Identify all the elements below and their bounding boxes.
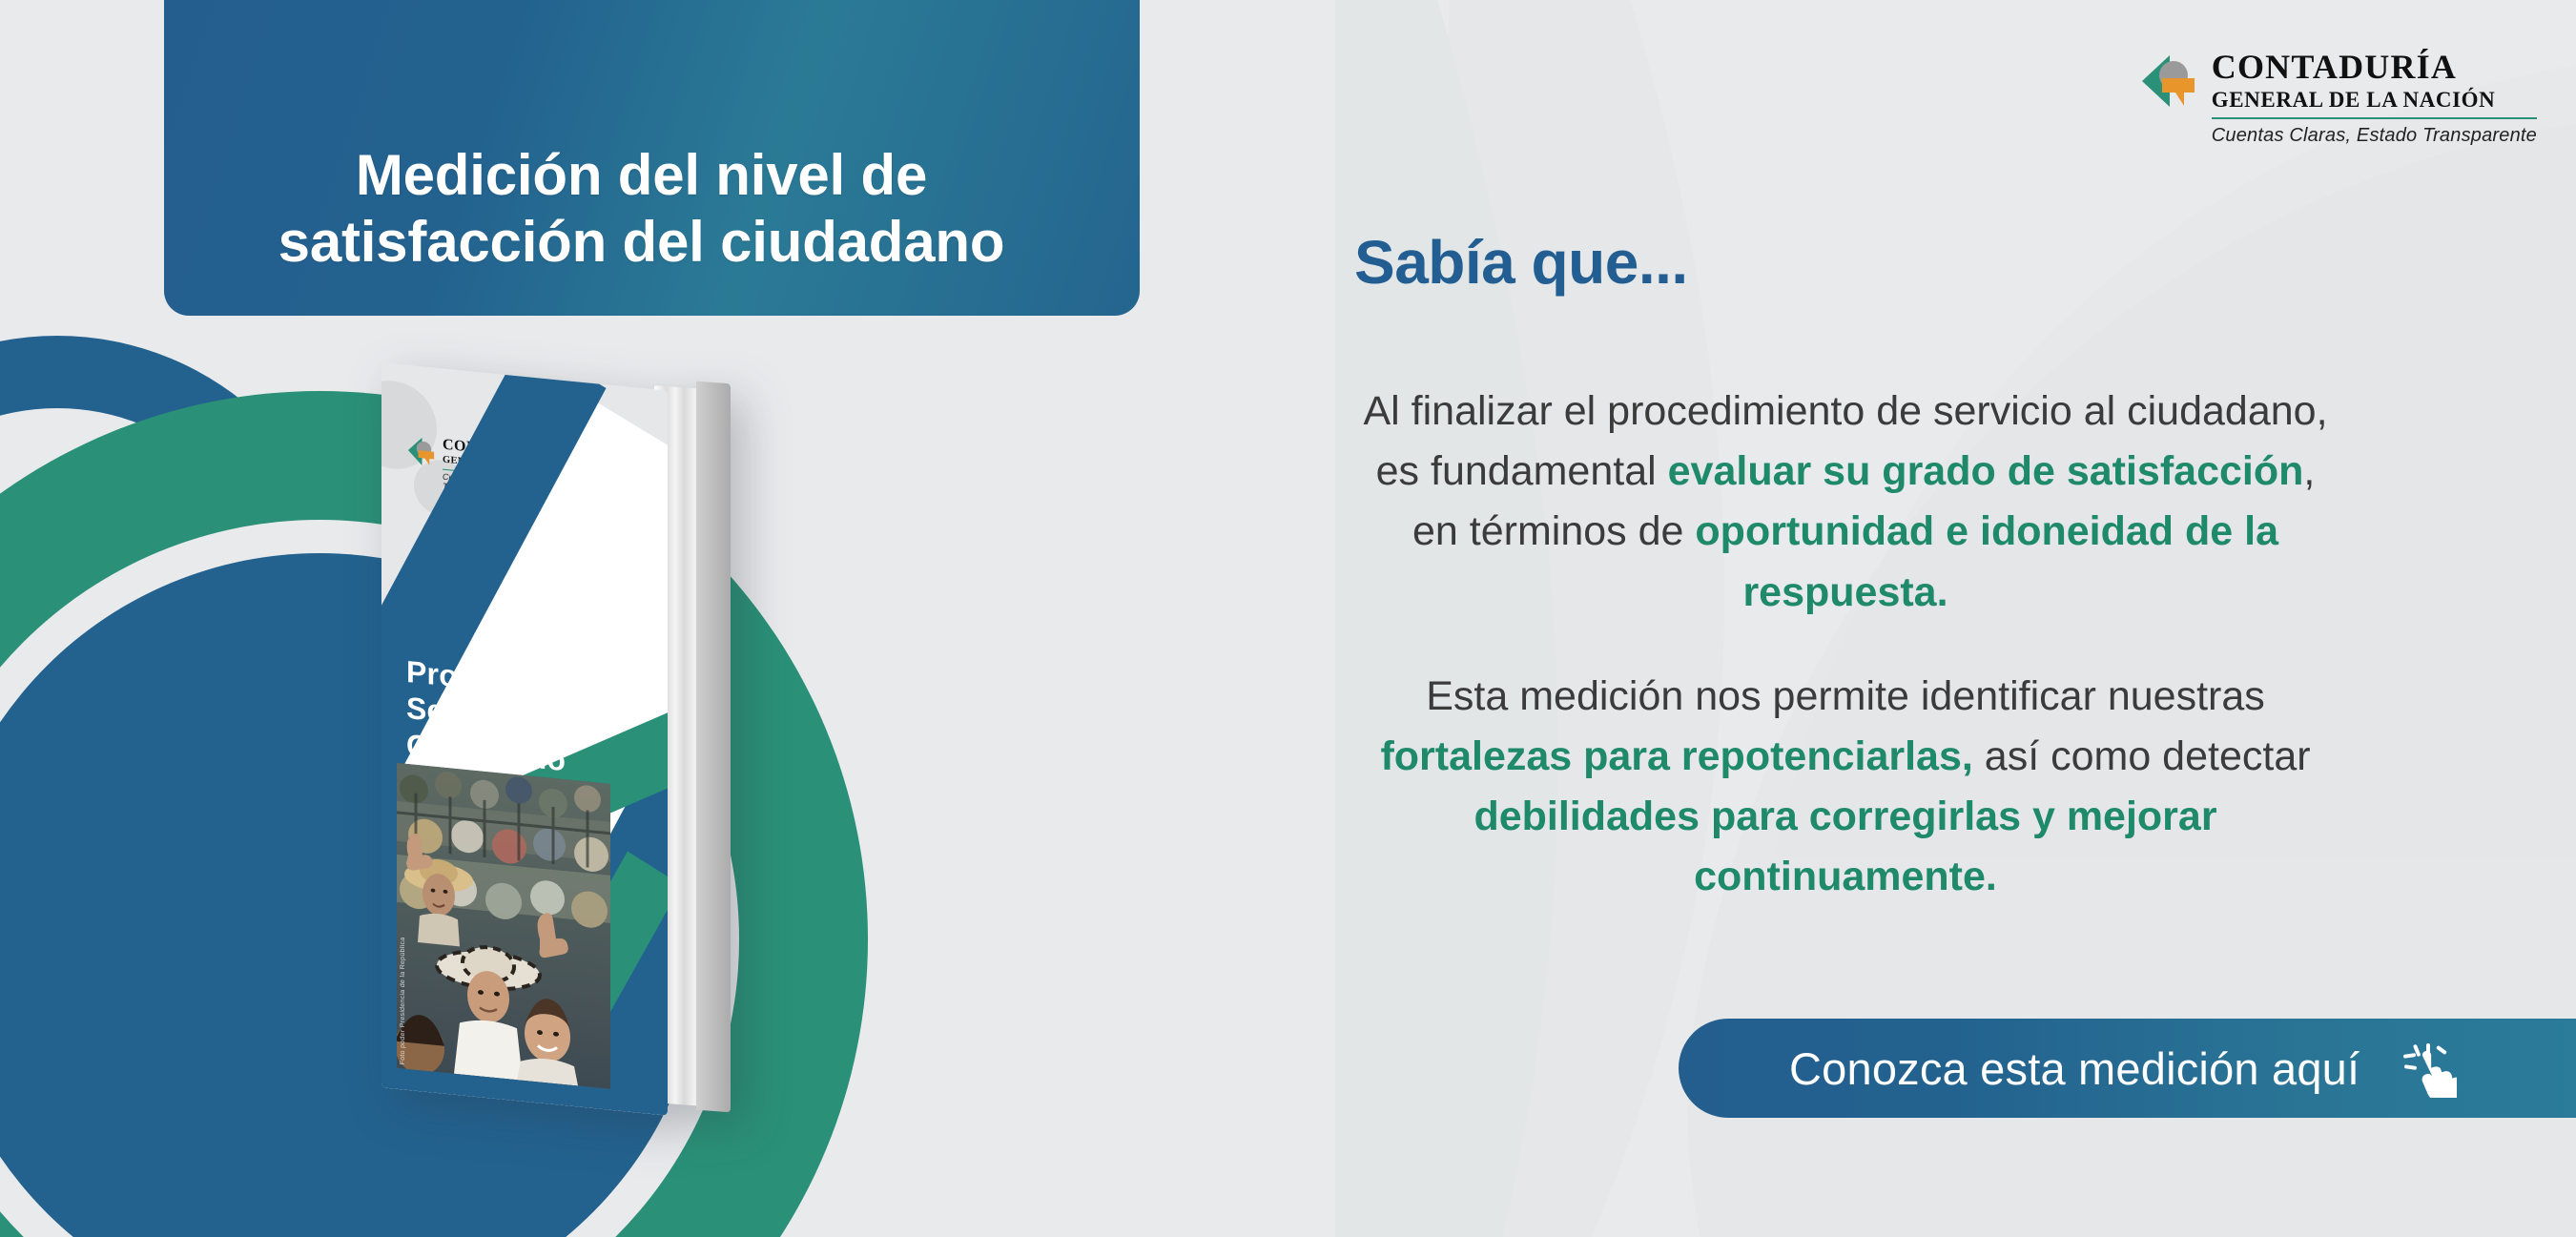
brand-logo: CONTADURÍA GENERAL DE LA NACIÓN Cuentas … xyxy=(2139,50,2537,147)
click-hand-icon xyxy=(2398,1039,2457,1098)
p2-seg-4: debilidades para corregirlas y mejorar c… xyxy=(1473,794,2216,899)
book-back-cover xyxy=(696,381,731,1113)
body-copy: Al finalizar el procedimiento de servici… xyxy=(1354,381,2337,908)
p2-seg-2: fortalezas para repotenciarlas, xyxy=(1380,733,1972,779)
book-mockup: CONTADURÍA GENERAL DE LA NACIÓN Cuentas … xyxy=(381,377,973,1121)
book-front-cover: CONTADURÍA GENERAL DE LA NACIÓN Cuentas … xyxy=(381,362,668,1115)
brand-divider xyxy=(2212,117,2537,119)
contaduria-logo-icon xyxy=(406,436,438,467)
brand-line-2: GENERAL DE LA NACIÓN xyxy=(2212,89,2537,111)
cover-title: Protocolo de Servicio al Ciudadano xyxy=(406,653,595,782)
kicker-heading: Sabía que... xyxy=(1354,227,2576,298)
paragraph-2: Esta medición nos permite identificar nu… xyxy=(1354,667,2337,908)
page-title-line-1: Medición del nivel de xyxy=(356,143,927,207)
p2-seg-1: Esta medición nos permite identificar nu… xyxy=(1426,673,2265,719)
cover-photo-credit: Foto poder Presidencia de la República xyxy=(400,937,406,1065)
brand-line-1: CONTADURÍA xyxy=(2212,50,2537,84)
p1-seg-2: evaluar su grado de satisfacción xyxy=(1668,448,2304,494)
cover-photo: Foto poder Presidencia de la República xyxy=(397,763,610,1089)
title-plaque: Medición del nivel de satisfacción del c… xyxy=(164,0,1140,316)
page-title: Medición del nivel de satisfacción del c… xyxy=(164,142,1140,276)
p2-seg-3: así como detectar xyxy=(1973,733,2311,779)
p1-seg-4: oportunidad e idoneidad de la respuesta. xyxy=(1695,508,2278,614)
paragraph-1: Al finalizar el procedimiento de servici… xyxy=(1354,381,2337,623)
page-title-line-2: satisfacción del ciudadano xyxy=(198,209,1084,276)
cta-button[interactable]: Conozca esta medición aquí xyxy=(1679,1019,2576,1118)
contaduria-logo-icon xyxy=(2139,53,2200,113)
cta-label: Conozca esta medición aquí xyxy=(1789,1042,2360,1095)
brand-tagline: Cuentas Claras, Estado Transparente xyxy=(2212,125,2537,147)
satisfaction-survey-banner: Medición del nivel de satisfacción del c… xyxy=(0,0,2576,1237)
